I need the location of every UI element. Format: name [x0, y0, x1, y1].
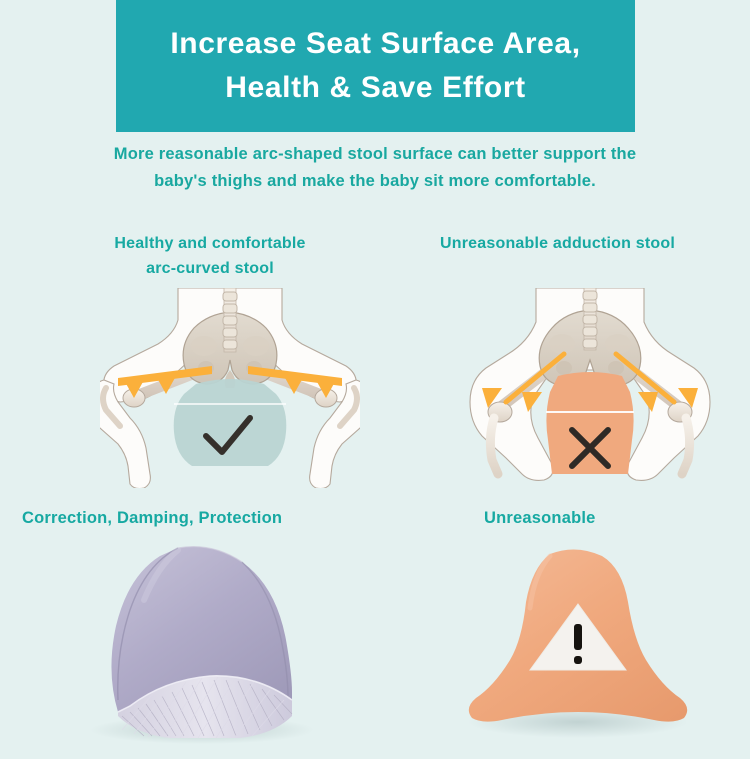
spine-bone: [583, 288, 597, 350]
subtitle-line-1: More reasonable arc-shaped stool surface…: [0, 141, 750, 168]
caption-product-correction: Correction, Damping, Protection: [22, 509, 282, 528]
header-banner: Increase Seat Surface Area, Health & Sav…: [116, 0, 635, 132]
infographic-page: Increase Seat Surface Area, Health & Sav…: [0, 0, 750, 759]
subtitle-line-2: baby's thighs and make the baby sit more…: [0, 168, 750, 195]
product-photo-correction-cushion: [60, 540, 350, 745]
subtitle-block: More reasonable arc-shaped stool surface…: [0, 141, 750, 195]
caption-unreasonable-stool: Unreasonable adduction stool: [385, 231, 730, 256]
anatomy-illustration-unreasonable: [460, 288, 720, 488]
banner-title-line-2: Health & Save Effort: [225, 66, 525, 110]
caption-product-unreasonable: Unreasonable: [484, 509, 596, 528]
caption-healthy-stool: Healthy and comfortable arc-curved stool: [50, 231, 370, 281]
product-photo-unreasonable-stool: [430, 540, 720, 745]
caption-unreasonable-line-1: Unreasonable adduction stool: [385, 231, 730, 256]
caption-healthy-line-1: Healthy and comfortable: [50, 231, 370, 256]
banner-title-line-1: Increase Seat Surface Area,: [170, 22, 580, 66]
caption-healthy-line-2: arc-curved stool: [50, 256, 370, 281]
anatomy-illustration-healthy: [100, 288, 360, 488]
seat-cushion-narrow: [546, 372, 634, 474]
spine-bone: [223, 288, 237, 352]
seat-cushion-arc: [174, 379, 287, 466]
